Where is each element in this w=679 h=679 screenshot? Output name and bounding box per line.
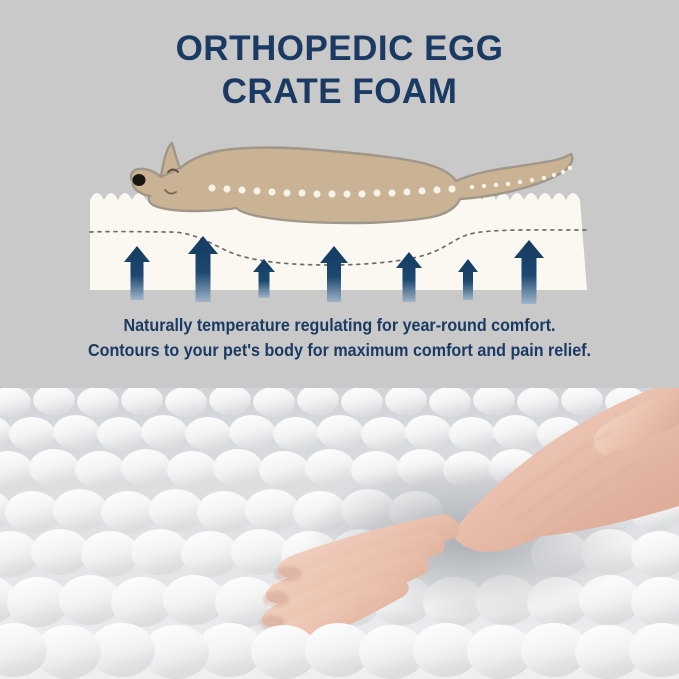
- photo-haze: [0, 388, 679, 679]
- feature-description: Naturally temperature regulating for yea…: [27, 313, 652, 364]
- feature-line-1: Naturally temperature regulating for yea…: [27, 313, 652, 338]
- page-title: ORTHOPEDIC EGG CRATE FOAM: [0, 28, 679, 113]
- feature-line-2: Contours to your pet's body for maximum …: [27, 338, 652, 363]
- dog-nose-icon: [133, 174, 146, 186]
- headline-line-1: ORTHOPEDIC EGG: [0, 28, 679, 71]
- foam-photo-panel: [0, 388, 679, 679]
- headline-line-2: CRATE FOAM: [0, 71, 679, 114]
- top-info-panel: ORTHOPEDIC EGG CRATE FOAM: [0, 0, 679, 388]
- dog-on-foam-diagram: [0, 128, 679, 308]
- product-feature-poster: ORTHOPEDIC EGG CRATE FOAM: [0, 0, 679, 679]
- egg-crate-foam-photo: [0, 388, 679, 679]
